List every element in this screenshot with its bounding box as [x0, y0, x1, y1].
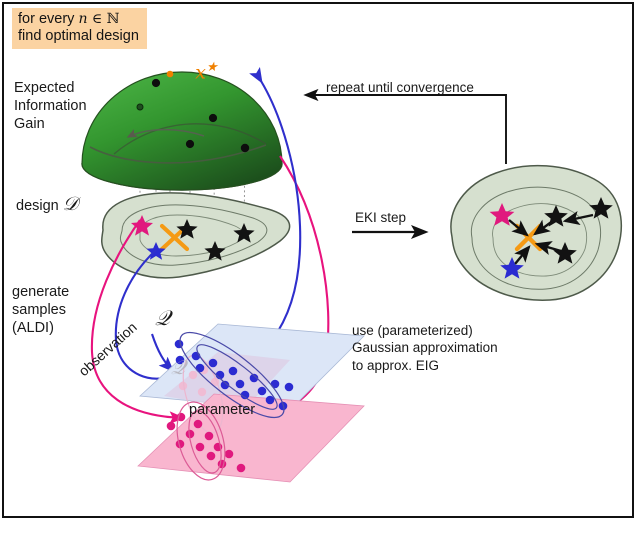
figure-frame: for every n ∈ ℕ find optimal design Expe…: [2, 2, 634, 518]
header-banner: for every n ∈ ℕ find optimal design: [12, 8, 147, 49]
gaussian-approximation-label: use (parameterized) Gaussian approximati…: [352, 322, 498, 374]
design-label: design 𝒟: [16, 194, 78, 215]
optimal-design-label: 𝑥★: [159, 40, 218, 105]
banner-line-2: find optimal design: [18, 28, 139, 45]
banner-line1-prefix: for every: [18, 11, 78, 27]
expected-information-gain-label: Expected Information Gain: [14, 80, 87, 134]
eki-step-label: EKI step: [355, 210, 406, 225]
diagram-canvas: [4, 4, 632, 516]
generate-samples-label: generate samples (ALDI): [12, 284, 69, 338]
observation-space-symbol: 𝒬: [155, 307, 170, 331]
repeat-loop-arrow: [309, 95, 506, 164]
figure-root: for every n ∈ ℕ find optimal design Expe…: [0, 0, 640, 542]
parameter-axis-label: parameter: [189, 402, 255, 418]
banner-line-1: for every n ∈ ℕ: [18, 11, 139, 28]
observation-space-symbol-ghost: 𝒬: [171, 356, 185, 378]
banner-element-of: ∈: [87, 11, 106, 27]
p-star-symbol: 𝑥: [195, 62, 206, 84]
banner-natural-numbers-symbol: ℕ: [107, 11, 120, 27]
repeat-until-convergence-label: repeat until convergence: [326, 80, 474, 95]
p-star-asterisk: ★: [206, 60, 218, 75]
design-label-text: design: [16, 198, 63, 214]
design-symbol-D: 𝒟: [63, 193, 78, 215]
